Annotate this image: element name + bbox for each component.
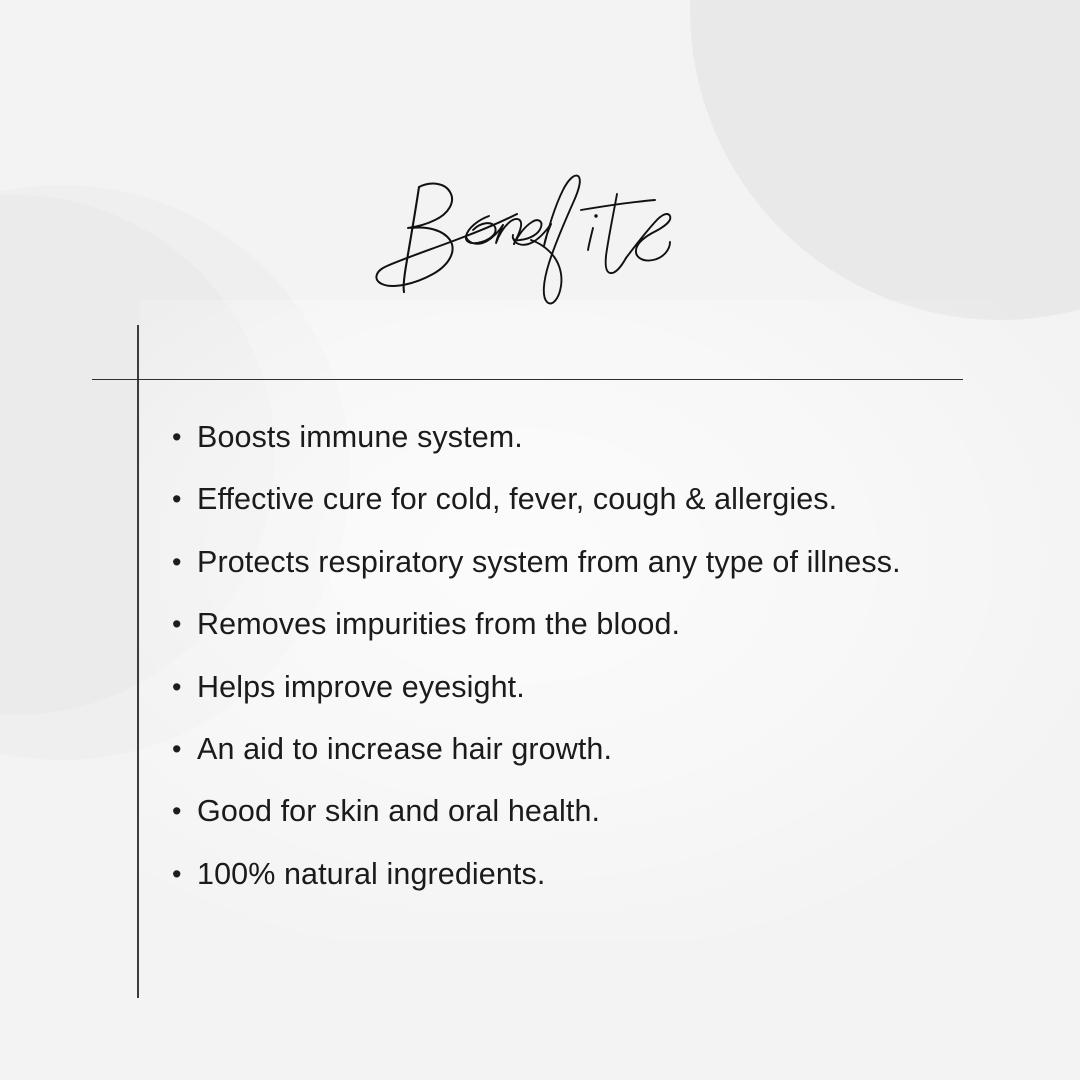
list-item: • Removes impurities from the blood. (172, 604, 1072, 666)
bullet-icon: • (172, 417, 197, 457)
benefits-poster: Benefits (0, 0, 1080, 1080)
bullet-icon: • (172, 729, 197, 769)
bullet-icon: • (172, 667, 197, 707)
list-item: • Boosts immune system. (172, 417, 1072, 479)
bullet-icon: • (172, 791, 197, 831)
benefit-text: Protects respiratory system from any typ… (197, 542, 901, 582)
bullet-icon: • (172, 479, 197, 519)
list-item: • Helps improve eyesight. (172, 667, 1072, 729)
benefit-text: Good for skin and oral health. (197, 791, 600, 831)
vertical-rule (137, 325, 139, 998)
benefit-text: An aid to increase hair growth. (197, 729, 612, 769)
horizontal-rule (92, 379, 963, 381)
page-title: Benefits (365, 168, 710, 313)
list-item: • Protects respiratory system from any t… (172, 542, 1072, 604)
list-item: • Good for skin and oral health. (172, 791, 1072, 853)
decorative-circle-top-right (690, 0, 1080, 320)
list-item: • An aid to increase hair growth. (172, 729, 1072, 791)
list-item: • 100% natural ingredients. (172, 854, 1072, 916)
benefit-text: Helps improve eyesight. (197, 667, 525, 707)
benefit-text: Boosts immune system. (197, 417, 523, 457)
bullet-icon: • (172, 542, 197, 582)
benefit-text: Removes impurities from the blood. (197, 604, 680, 644)
benefit-text: Effective cure for cold, fever, cough & … (197, 479, 837, 519)
bullet-icon: • (172, 854, 197, 894)
bullet-icon: • (172, 604, 197, 644)
benefits-list: • Boosts immune system. • Effective cure… (172, 417, 1072, 916)
benefit-text: 100% natural ingredients. (197, 854, 545, 894)
list-item: • Effective cure for cold, fever, cough … (172, 479, 1072, 541)
